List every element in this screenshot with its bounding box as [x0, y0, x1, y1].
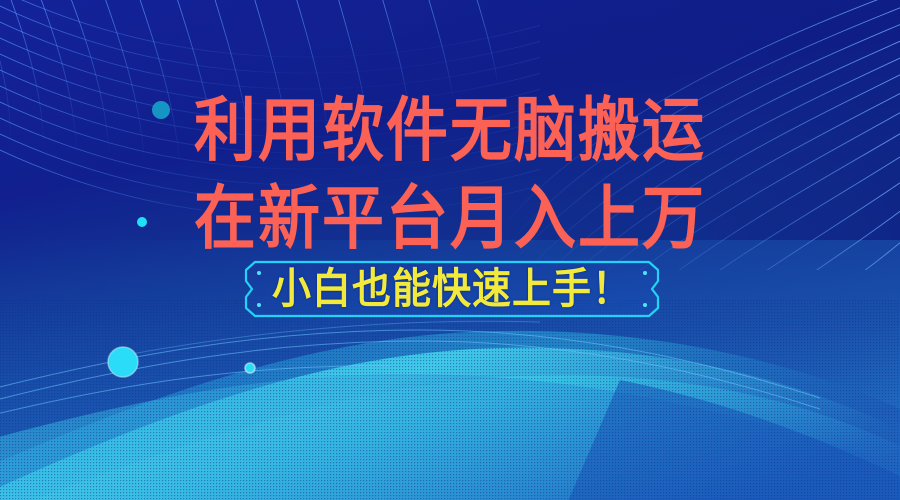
- teal-dot: [152, 101, 170, 119]
- headline-line-3: 小白也能快速上手！: [243, 257, 661, 322]
- large-cyan-circle: [108, 347, 138, 377]
- poster-canvas: 利用软件无脑搬运 在新平台月入上万 小白也能快速上手！: [0, 0, 900, 500]
- small-cyan-dot: [137, 217, 147, 227]
- background-artwork: [0, 0, 900, 500]
- ringed-cyan-dot: [245, 363, 255, 373]
- subtitle-frame-wrap: 小白也能快速上手！: [243, 259, 661, 319]
